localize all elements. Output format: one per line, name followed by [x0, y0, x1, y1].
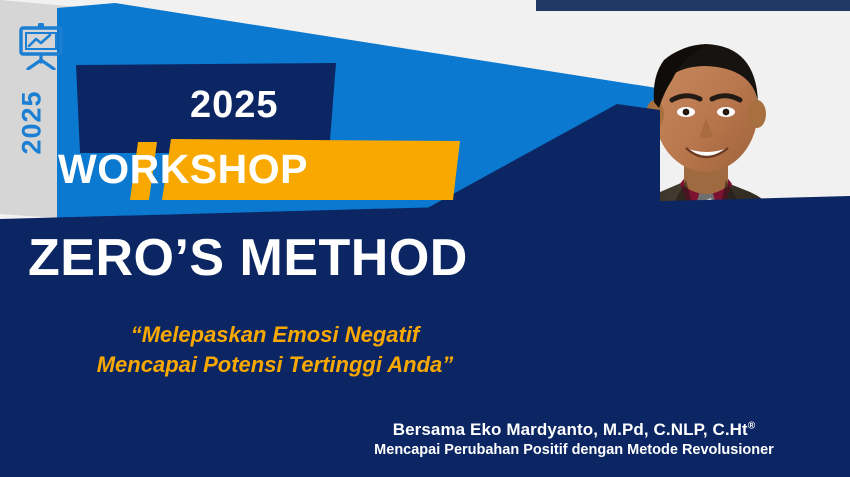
sidebar-vertical-year: 2025: [17, 68, 48, 178]
workshop-label: WORKSHOP: [58, 146, 308, 193]
presentation-chart-icon: [16, 22, 66, 70]
presenter-name-text: Bersama Eko Mardyanto, M.Pd, C.NLP, C.Ht: [393, 420, 748, 439]
registered-mark: ®: [748, 420, 755, 431]
top-navy-bar: [536, 0, 850, 11]
tagline-line-1: “Melepaskan Emosi Negatif: [30, 320, 520, 350]
poster-canvas: 2025 2025 WORKSHOP ZERO’S METHOD “Melepa…: [0, 0, 850, 477]
tagline-line-2: Mencapai Potensi Tertinggi Anda”: [30, 350, 520, 380]
headline-year: 2025: [190, 84, 279, 127]
page-title: ZERO’S METHOD: [28, 228, 468, 288]
tagline: “Melepaskan Emosi Negatif Mencapai Poten…: [30, 320, 520, 381]
presenter-name: Bersama Eko Mardyanto, M.Pd, C.NLP, C.Ht…: [300, 420, 848, 440]
credit-subtitle: Mencapai Perubahan Positif dengan Metode…: [300, 442, 848, 458]
credit-block: Bersama Eko Mardyanto, M.Pd, C.NLP, C.Ht…: [300, 420, 848, 458]
